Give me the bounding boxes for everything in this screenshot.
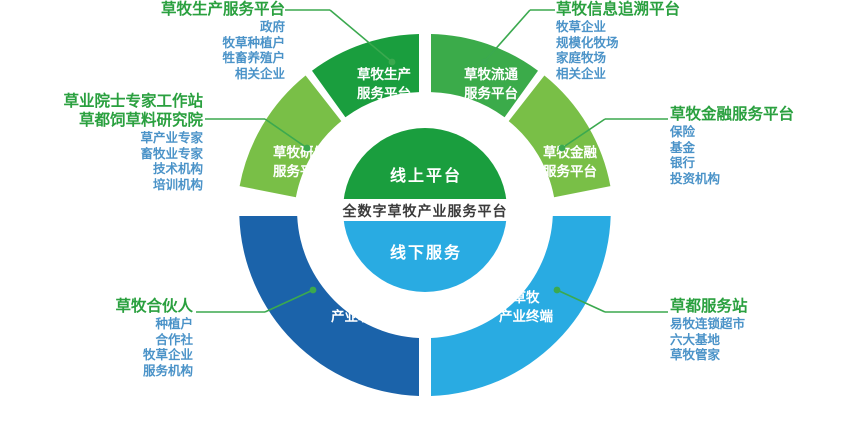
infographic-canvas: 草牧研发 服务平台 草牧生产 服务平台 草牧流通 服务平台 草牧金融 服务平台 … — [0, 0, 850, 428]
callout-rnd-items: 草产业专家 畜牧业专家 技术机构 培训机构 — [0, 130, 203, 192]
callout-station-item-2: 草牧管家 — [670, 347, 850, 363]
leader-dot-station — [554, 287, 561, 294]
callout-traceability-item-3: 相关企业 — [556, 66, 786, 82]
segment-rnd-line2: 服务平台 — [273, 163, 327, 180]
callout-finance-item-1: 基金 — [670, 140, 850, 156]
callout-station-title: 草都服务站 — [670, 297, 850, 316]
segment-finance-line1: 草牧金融 — [543, 144, 597, 161]
callout-partner-item-3: 服务机构 — [0, 363, 193, 379]
callout-traceability: 草牧信息追溯平台 牧草企业 规模化牧场 家庭牧场 相关企业 — [556, 0, 786, 81]
callout-partner-item-1: 合作社 — [0, 332, 193, 348]
leader-dot-production — [389, 59, 396, 66]
callout-production-item-3: 相关企业 — [60, 66, 285, 82]
leader-dot-partner — [310, 287, 317, 294]
callout-partner-item-0: 种植户 — [0, 316, 193, 332]
callout-rnd: 草业院士专家工作站 草都饲草料研究院 草产业专家 畜牧业专家 技术机构 培训机构 — [0, 92, 203, 192]
callout-rnd-item-0: 草产业专家 — [0, 130, 203, 146]
callout-traceability-items: 牧草企业 规模化牧场 家庭牧场 相关企业 — [556, 19, 786, 81]
segment-production-line2: 服务平台 — [357, 85, 411, 102]
callout-traceability-title: 草牧信息追溯平台 — [556, 0, 786, 19]
leader-dot-rnd — [304, 145, 311, 152]
segment-circulation-line1: 草牧流通 — [464, 66, 518, 83]
callout-production-items: 政府 牧草种植户 牲畜养殖户 相关企业 — [60, 19, 285, 81]
callout-production-item-1: 牧草种植户 — [60, 35, 285, 51]
segment-alliance-line1: 草牧 — [345, 289, 372, 306]
callout-finance-title: 草牧金融服务平台 — [670, 105, 850, 124]
callout-station-item-0: 易牧连锁超市 — [670, 316, 850, 332]
callout-partner-title: 草牧合伙人 — [0, 297, 193, 316]
segment-terminal-line2: 产业终端 — [499, 308, 553, 325]
callout-traceability-item-0: 牧草企业 — [556, 19, 786, 35]
callout-station-items: 易牧连锁超市 六大基地 草牧管家 — [670, 316, 850, 363]
callout-rnd-item-2: 技术机构 — [0, 161, 203, 177]
callout-production-item-2: 牲畜养殖户 — [60, 50, 285, 66]
core-band-label: 全数字草牧产业服务平台 — [342, 203, 508, 220]
callout-production-item-0: 政府 — [60, 19, 285, 35]
segment-terminal-line1: 草牧 — [513, 289, 541, 306]
leader-dot-traceability — [481, 59, 488, 66]
segment-production-line1: 草牧生产 — [357, 66, 411, 83]
callout-finance-item-3: 投资机构 — [670, 171, 850, 187]
callout-production-title: 草牧生产服务平台 — [60, 0, 285, 19]
callout-rnd-title-line2: 草都饲草料研究院 — [0, 111, 203, 130]
callout-station: 草都服务站 易牧连锁超市 六大基地 草牧管家 — [670, 297, 850, 363]
segment-alliance-line2: 产业联盟 — [331, 308, 385, 325]
callout-partner-item-2: 牧草企业 — [0, 347, 193, 363]
callout-traceability-item-1: 规模化牧场 — [556, 35, 786, 51]
callout-traceability-item-2: 家庭牧场 — [556, 50, 786, 66]
callout-finance-item-2: 银行 — [670, 155, 850, 171]
callout-finance: 草牧金融服务平台 保险 基金 银行 投资机构 — [670, 105, 850, 186]
callout-station-item-1: 六大基地 — [670, 332, 850, 348]
callout-partner-items: 种植户 合作社 牧草企业 服务机构 — [0, 316, 193, 378]
callout-finance-items: 保险 基金 银行 投资机构 — [670, 124, 850, 186]
segment-finance-line2: 服务平台 — [543, 163, 597, 180]
core-online-label: 线上平台 — [390, 166, 462, 185]
callout-finance-item-0: 保险 — [670, 124, 850, 140]
callout-production: 草牧生产服务平台 政府 牧草种植户 牲畜养殖户 相关企业 — [60, 0, 285, 81]
callout-rnd-item-1: 畜牧业专家 — [0, 146, 203, 162]
leader-dot-finance — [559, 145, 566, 152]
callout-rnd-title-line1: 草业院士专家工作站 — [0, 92, 203, 111]
callout-rnd-item-3: 培训机构 — [0, 177, 203, 193]
segment-circulation-line2: 服务平台 — [464, 85, 518, 102]
callout-partner: 草牧合伙人 种植户 合作社 牧草企业 服务机构 — [0, 297, 193, 378]
segment-rnd-line1: 草牧研发 — [273, 144, 327, 161]
core-offline-label: 线下服务 — [390, 243, 462, 262]
